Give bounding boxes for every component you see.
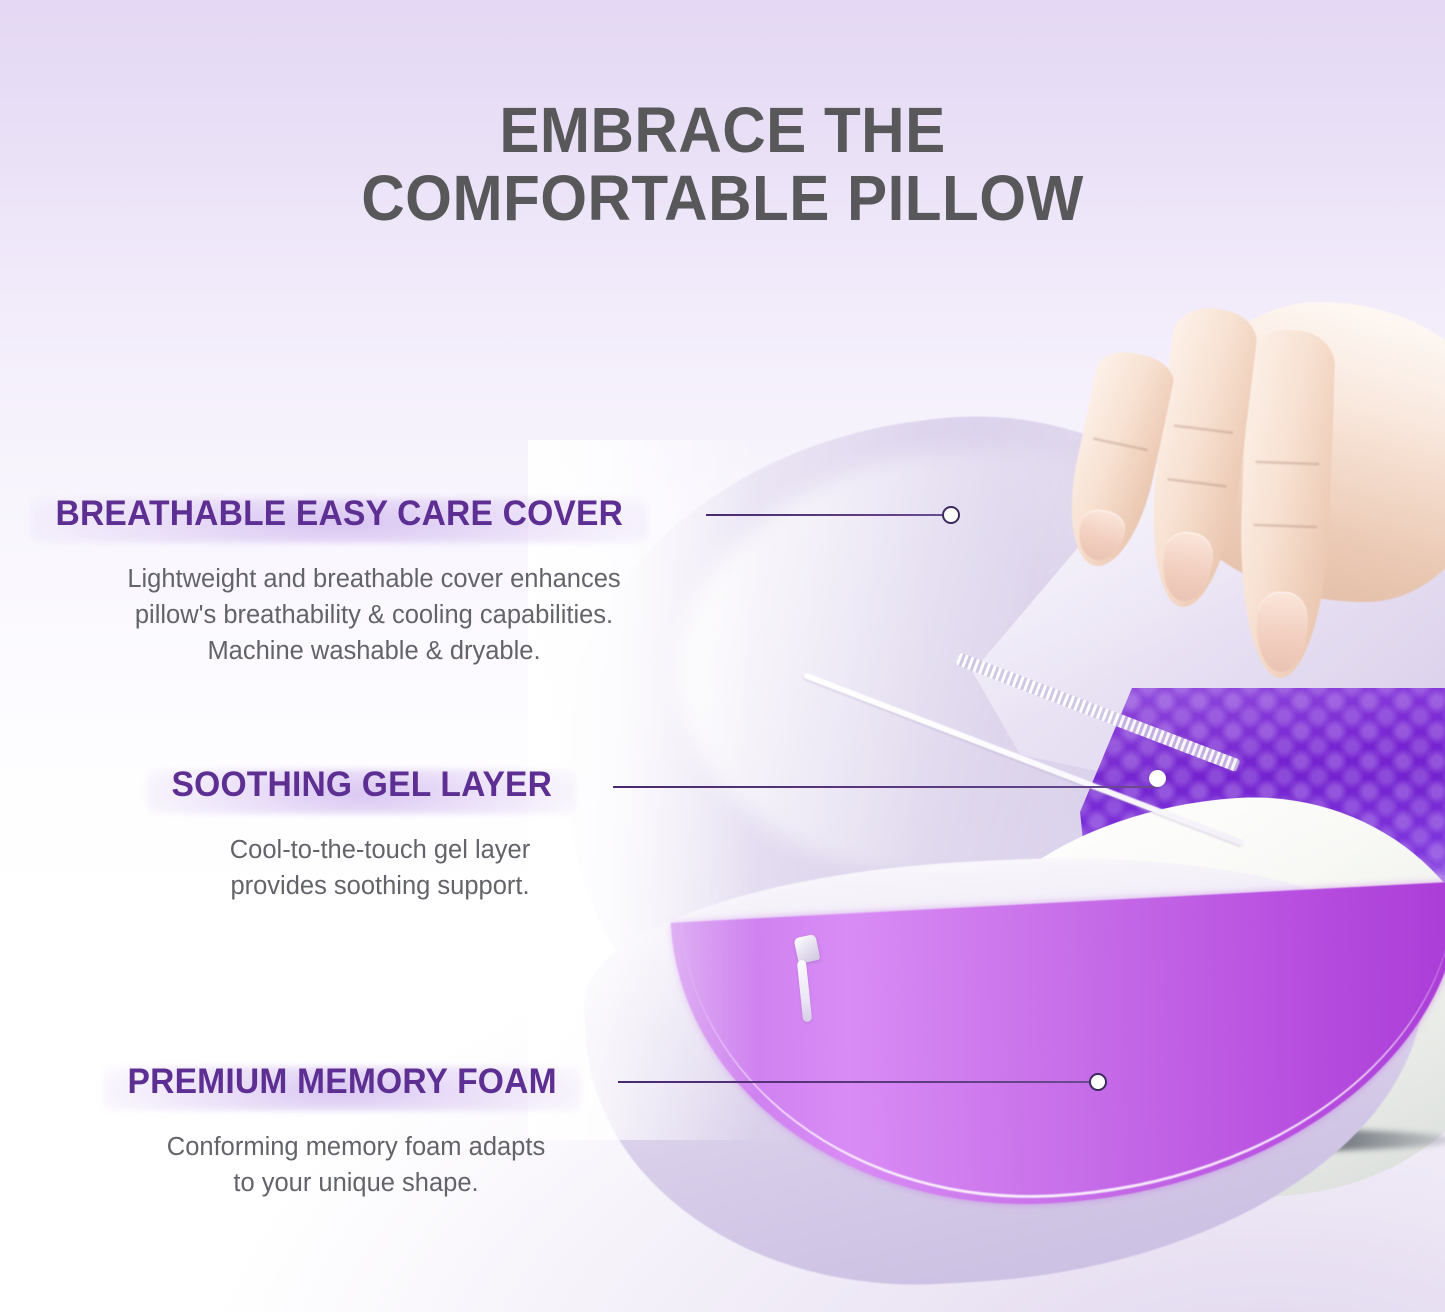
- gel-callout-dot: [1149, 770, 1166, 787]
- feature-callout-gel: SOOTHING GEL LAYER Cool-to-the-touch gel…: [160, 763, 600, 904]
- foam-callout-dot: [1089, 1073, 1107, 1091]
- leader-line-cover: [706, 514, 944, 516]
- leader-line-foam: [618, 1081, 1091, 1083]
- fingernail: [1074, 506, 1129, 564]
- leader-line-gel: [613, 786, 1159, 788]
- knuckle-crease: [1256, 461, 1319, 465]
- knuckle-crease: [1093, 437, 1148, 451]
- feature-heading-foam: PREMIUM MEMORY FOAM: [116, 1060, 568, 1107]
- title-line-2: COMFORTABLE PILLOW: [43, 164, 1401, 232]
- page-title: EMBRACE THE COMFORTABLE PILLOW: [0, 96, 1445, 233]
- feature-heading-cover: BREATHABLE EASY CARE COVER: [44, 492, 635, 539]
- feature-callout-cover: BREATHABLE EASY CARE COVER Lightweight a…: [44, 492, 704, 670]
- feature-callout-foam: PREMIUM MEMORY FOAM Conforming memory fo…: [116, 1060, 596, 1201]
- knuckle-crease: [1167, 478, 1227, 487]
- product-photo: [528, 300, 1445, 1312]
- feature-body-foam: Conforming memory foam adapts to your un…: [116, 1129, 596, 1201]
- fingernail: [1158, 529, 1215, 603]
- fingernail: [1255, 591, 1309, 673]
- feature-body-gel: Cool-to-the-touch gel layer provides soo…: [160, 832, 600, 904]
- feature-heading-gel: SOOTHING GEL LAYER: [160, 763, 564, 810]
- knuckle-crease: [1173, 425, 1233, 434]
- hand: [1018, 300, 1445, 714]
- cover-callout-dot: [942, 506, 960, 524]
- knuckle-crease: [1254, 524, 1317, 528]
- feature-body-cover: Lightweight and breathable cover enhance…: [44, 561, 704, 670]
- title-line-1: EMBRACE THE: [43, 96, 1401, 164]
